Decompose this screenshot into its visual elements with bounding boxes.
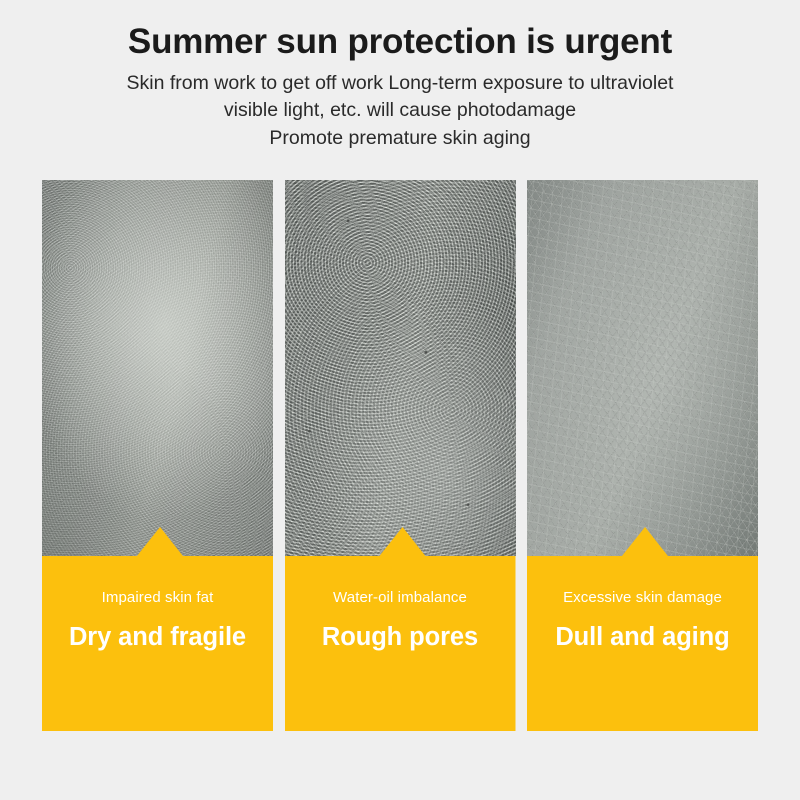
- subtitle-line-3: Promote premature skin aging: [0, 125, 800, 153]
- card-caption: Excessive skin damage Dull and aging: [527, 527, 758, 731]
- page-subtitle: Skin from work to get off work Long-term…: [0, 61, 800, 153]
- caption-headline: Rough pores: [285, 622, 516, 653]
- aging-skin-texture: [527, 180, 758, 556]
- page-title: Summer sun protection is urgent: [0, 0, 800, 61]
- caption-headline: Dull and aging: [527, 622, 758, 653]
- card-caption: Impaired skin fat Dry and fragile: [42, 527, 273, 731]
- caption-subtitle: Impaired skin fat: [42, 589, 273, 608]
- card-caption: Water-oil imbalance Rough pores: [285, 527, 516, 731]
- skin-condition-card: Excessive skin damage Dull and aging: [527, 180, 758, 731]
- sun-protection-poster: Summer sun protection is urgent Skin fro…: [0, 0, 800, 800]
- caption-subtitle: Water-oil imbalance: [285, 589, 516, 608]
- skin-condition-card: Water-oil imbalance Rough pores: [285, 180, 516, 731]
- poster-header: Summer sun protection is urgent Skin fro…: [0, 0, 800, 153]
- skin-condition-card: Impaired skin fat Dry and fragile: [42, 180, 273, 731]
- rough-pores-skin-closeup-photo: [285, 180, 516, 556]
- caption-headline: Dry and fragile: [42, 622, 273, 653]
- caption-subtitle: Excessive skin damage: [527, 589, 758, 608]
- dry-skin-closeup-photo: [42, 180, 273, 556]
- skin-condition-card-row: Impaired skin fat Dry and fragile Water-…: [42, 180, 758, 731]
- aging-skin-closeup-photo: [527, 180, 758, 556]
- subtitle-line-1: Skin from work to get off work Long-term…: [0, 70, 800, 98]
- subtitle-line-2: visible light, etc. will cause photodama…: [0, 97, 800, 125]
- rough-pores-texture: [285, 180, 516, 556]
- dry-skin-texture: [42, 180, 273, 556]
